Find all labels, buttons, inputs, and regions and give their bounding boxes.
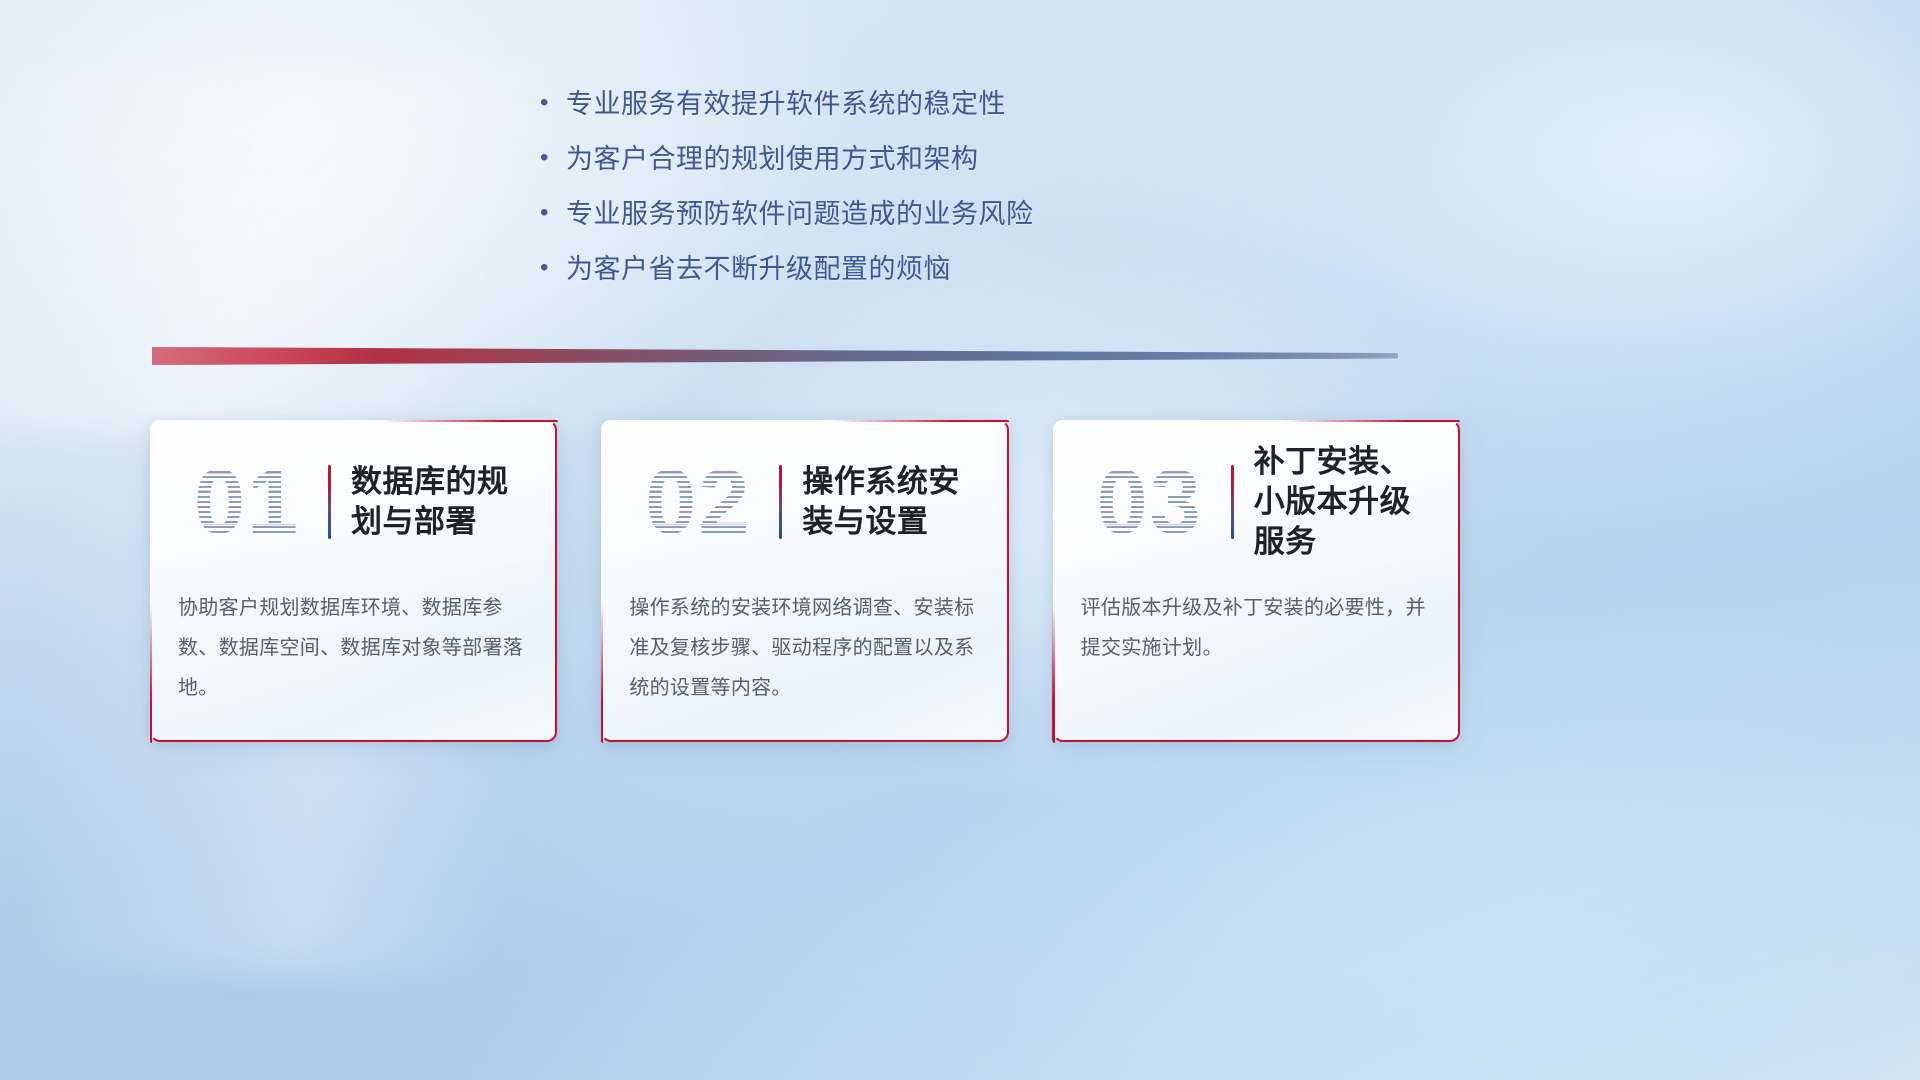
bullet-text-4: 为客户省去不断升级配置的烦恼 [566, 253, 951, 286]
bullet-text-2: 为客户合理的规划使用方式和架构 [566, 143, 979, 176]
card-divider-bar [1231, 465, 1234, 539]
service-card-03[interactable]: 03 补丁安装、小版本升级服务 评估版本升级及补丁安装的必要性，并提交实施计划。 [1053, 420, 1460, 742]
card-body-01: 协助客户规划数据库环境、数据库参数、数据库空间、数据库对象等部署落地。 [178, 588, 531, 708]
bullet-dot-icon: • [540, 201, 566, 225]
service-card-02[interactable]: 02 操作系统安装与设置 操作系统的安装环境网络调查、安装标准及复核步骤、驱动程… [601, 420, 1008, 742]
card-title-01: 数据库的规划与部署 [351, 462, 557, 541]
card-title-03: 补丁安装、小版本升级服务 [1254, 442, 1460, 561]
list-item: • 为客户合理的规划使用方式和架构 [540, 143, 1200, 176]
card-body-03: 评估版本升级及补丁安装的必要性，并提交实施计划。 [1081, 588, 1434, 668]
card-header: 02 操作系统安装与设置 [601, 438, 1008, 566]
bullet-text-3: 专业服务预防软件问题造成的业务风险 [566, 198, 1034, 231]
card-number-02: 02 [623, 456, 773, 548]
card-divider-bar [328, 465, 331, 539]
card-number-01: 01 [172, 456, 322, 548]
bullet-dot-icon: • [540, 256, 566, 280]
card-title-02: 操作系统安装与设置 [802, 462, 1008, 541]
list-item: • 为客户省去不断升级配置的烦恼 [540, 253, 1200, 286]
list-item: • 专业服务预防软件问题造成的业务风险 [540, 198, 1200, 231]
bullet-dot-icon: • [540, 146, 566, 170]
section-divider [152, 347, 1398, 365]
card-header: 01 数据库的规划与部署 [150, 438, 557, 566]
card-divider-bar [779, 465, 782, 539]
bullet-dot-icon: • [540, 91, 566, 115]
divider-highlight [152, 347, 1398, 365]
service-card-01[interactable]: 01 数据库的规划与部署 协助客户规划数据库环境、数据库参数、数据库空间、数据库… [150, 420, 557, 742]
service-card-row: 01 数据库的规划与部署 协助客户规划数据库环境、数据库参数、数据库空间、数据库… [150, 420, 1460, 750]
benefits-bullet-list: • 专业服务有效提升软件系统的稳定性 • 为客户合理的规划使用方式和架构 • 专… [540, 88, 1200, 308]
card-body-02: 操作系统的安装环境网络调查、安装标准及复核步骤、驱动程序的配置以及系统的设置等内… [629, 588, 982, 708]
card-header: 03 补丁安装、小版本升级服务 [1053, 438, 1460, 566]
bullet-text-1: 专业服务有效提升软件系统的稳定性 [566, 88, 1006, 121]
card-number-03: 03 [1075, 456, 1225, 548]
list-item: • 专业服务有效提升软件系统的稳定性 [540, 88, 1200, 121]
